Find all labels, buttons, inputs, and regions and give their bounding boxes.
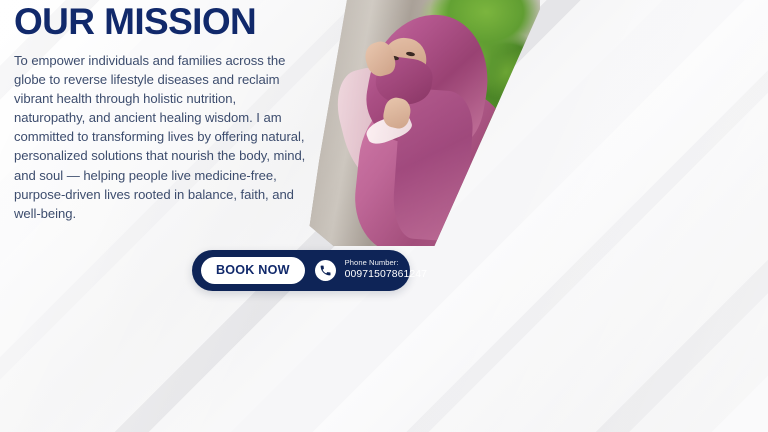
book-now-button[interactable]: BOOK NOW xyxy=(201,257,305,285)
phone-label: Phone Number: xyxy=(345,259,427,268)
mission-statement-paragraph: To empower individuals and families acro… xyxy=(14,51,310,223)
our-mission-banner: OUR MISSION To empower individuals and f… xyxy=(0,0,768,432)
cta-bar: BOOK NOW Phone Number: 00971507861247 xyxy=(192,250,410,291)
page-title: OUR MISSION xyxy=(14,2,314,42)
phone-handset-icon xyxy=(315,260,336,281)
phone-info[interactable]: Phone Number: 00971507861247 xyxy=(345,259,427,281)
mission-text-column: OUR MISSION To empower individuals and f… xyxy=(14,2,314,223)
phone-number[interactable]: 00971507861247 xyxy=(345,269,427,281)
